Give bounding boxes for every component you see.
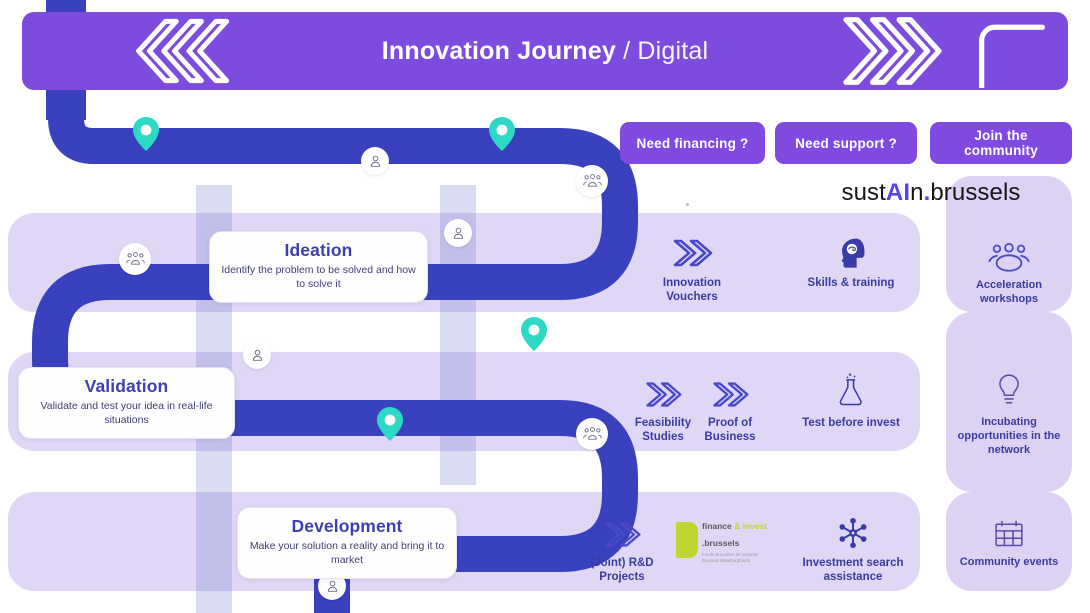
join-community-button[interactable]: Join the community bbox=[930, 122, 1072, 164]
need-support-button[interactable]: Need support ? bbox=[775, 122, 917, 164]
actions-layer: Need financing ? Need support ? Join the… bbox=[0, 0, 1090, 613]
innovation-journey-infographic: Ideation Identify the problem to be solv… bbox=[0, 0, 1090, 613]
sustain-brussels-brand: sustAIn.brussels bbox=[790, 176, 1072, 210]
need-financing-button[interactable]: Need financing ? bbox=[620, 122, 765, 164]
